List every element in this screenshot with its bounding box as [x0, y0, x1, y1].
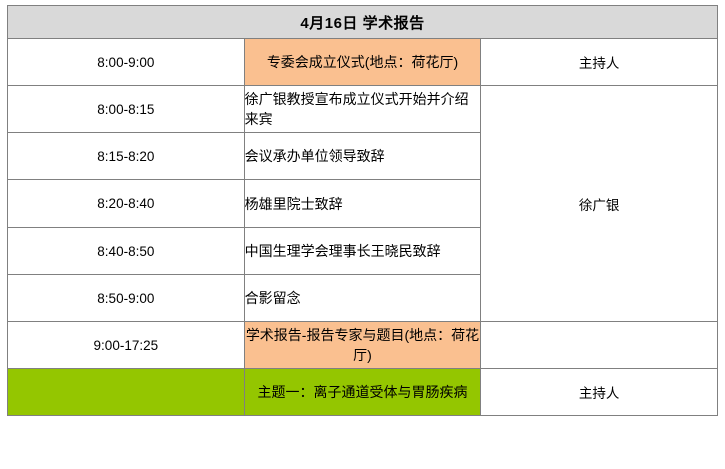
host-cell: 主持人	[481, 369, 718, 416]
table-row: 9:00-17:25 学术报告-报告专家与题目(地点：荷花厅)	[8, 322, 718, 369]
document-title: 4月16日 学术报告	[8, 6, 718, 39]
content-cell: 杨雄里院士致辞	[244, 180, 481, 228]
document-page: 4月16日 学术报告 8:00-9:00 专委会成立仪式(地点：荷花厅) 主持人…	[0, 5, 725, 469]
table-row: 主题一：离子通道受体与胃肠疾病 主持人	[8, 369, 718, 416]
content-cell: 合影留念	[244, 275, 481, 322]
content-cell: 徐广银教授宣布成立仪式开始并介绍来宾	[244, 86, 481, 133]
schedule-table: 4月16日 学术报告 8:00-9:00 专委会成立仪式(地点：荷花厅) 主持人…	[7, 5, 718, 416]
time-cell: 8:00-9:00	[8, 39, 245, 86]
host-cell: 主持人	[481, 39, 718, 86]
time-cell: 8:00-8:15	[8, 86, 245, 133]
time-cell: 8:20-8:40	[8, 180, 245, 228]
content-cell: 学术报告-报告专家与题目(地点：荷花厅)	[244, 322, 481, 369]
title-row: 4月16日 学术报告	[8, 6, 718, 39]
time-cell: 8:40-8:50	[8, 228, 245, 275]
content-cell: 专委会成立仪式(地点：荷花厅)	[244, 39, 481, 86]
time-cell: 8:15-8:20	[8, 133, 245, 180]
host-cell: 徐广银	[481, 86, 718, 322]
content-cell: 主题一：离子通道受体与胃肠疾病	[244, 369, 481, 416]
time-cell: 9:00-17:25	[8, 322, 245, 369]
time-cell: 8:50-9:00	[8, 275, 245, 322]
schedule-table-body: 4月16日 学术报告 8:00-9:00 专委会成立仪式(地点：荷花厅) 主持人…	[8, 6, 718, 416]
content-cell: 中国生理学会理事长王晓民致辞	[244, 228, 481, 275]
content-cell: 会议承办单位领导致辞	[244, 133, 481, 180]
time-cell	[8, 369, 245, 416]
table-row: 8:00-8:15 徐广银教授宣布成立仪式开始并介绍来宾 徐广银	[8, 86, 718, 133]
host-cell	[481, 322, 718, 369]
table-row: 8:00-9:00 专委会成立仪式(地点：荷花厅) 主持人	[8, 39, 718, 86]
